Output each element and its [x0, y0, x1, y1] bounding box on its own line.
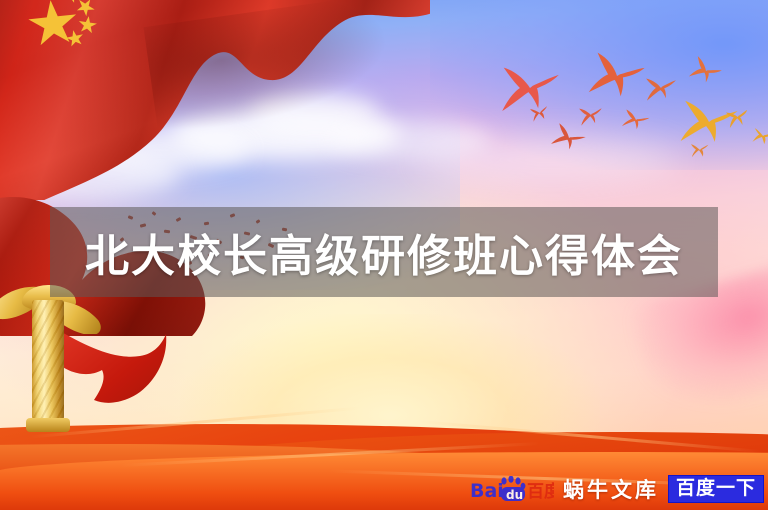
baidu-search-button[interactable]: 百度一下 — [668, 475, 764, 503]
title-banner: 北大校长高级研修班心得体会 — [50, 207, 718, 297]
bird-icon — [621, 108, 652, 132]
poster-canvas: 北大校长高级研修班心得体会 Bai du 百度 蜗牛文库 百度一下 — [0, 0, 768, 510]
pillar-texture — [32, 300, 64, 420]
bird-icon — [689, 141, 711, 160]
footer-watermark: Bai du 百度 蜗牛文库 百度一下 — [470, 472, 764, 506]
page-title: 北大校长高级研修班心得体会 — [50, 207, 718, 297]
svg-text:du: du — [506, 488, 523, 502]
baidu-logo[interactable]: Bai du 百度 — [470, 476, 554, 502]
bird-icon — [751, 127, 768, 146]
golden-pillar — [32, 300, 64, 420]
site-name: 蜗牛文库 — [563, 474, 659, 504]
pillar-base — [26, 418, 70, 432]
bird-icon — [586, 50, 647, 102]
chinese-flag — [0, 0, 430, 200]
svg-text:Bai: Bai — [470, 480, 504, 502]
svg-text:百度: 百度 — [527, 481, 554, 502]
